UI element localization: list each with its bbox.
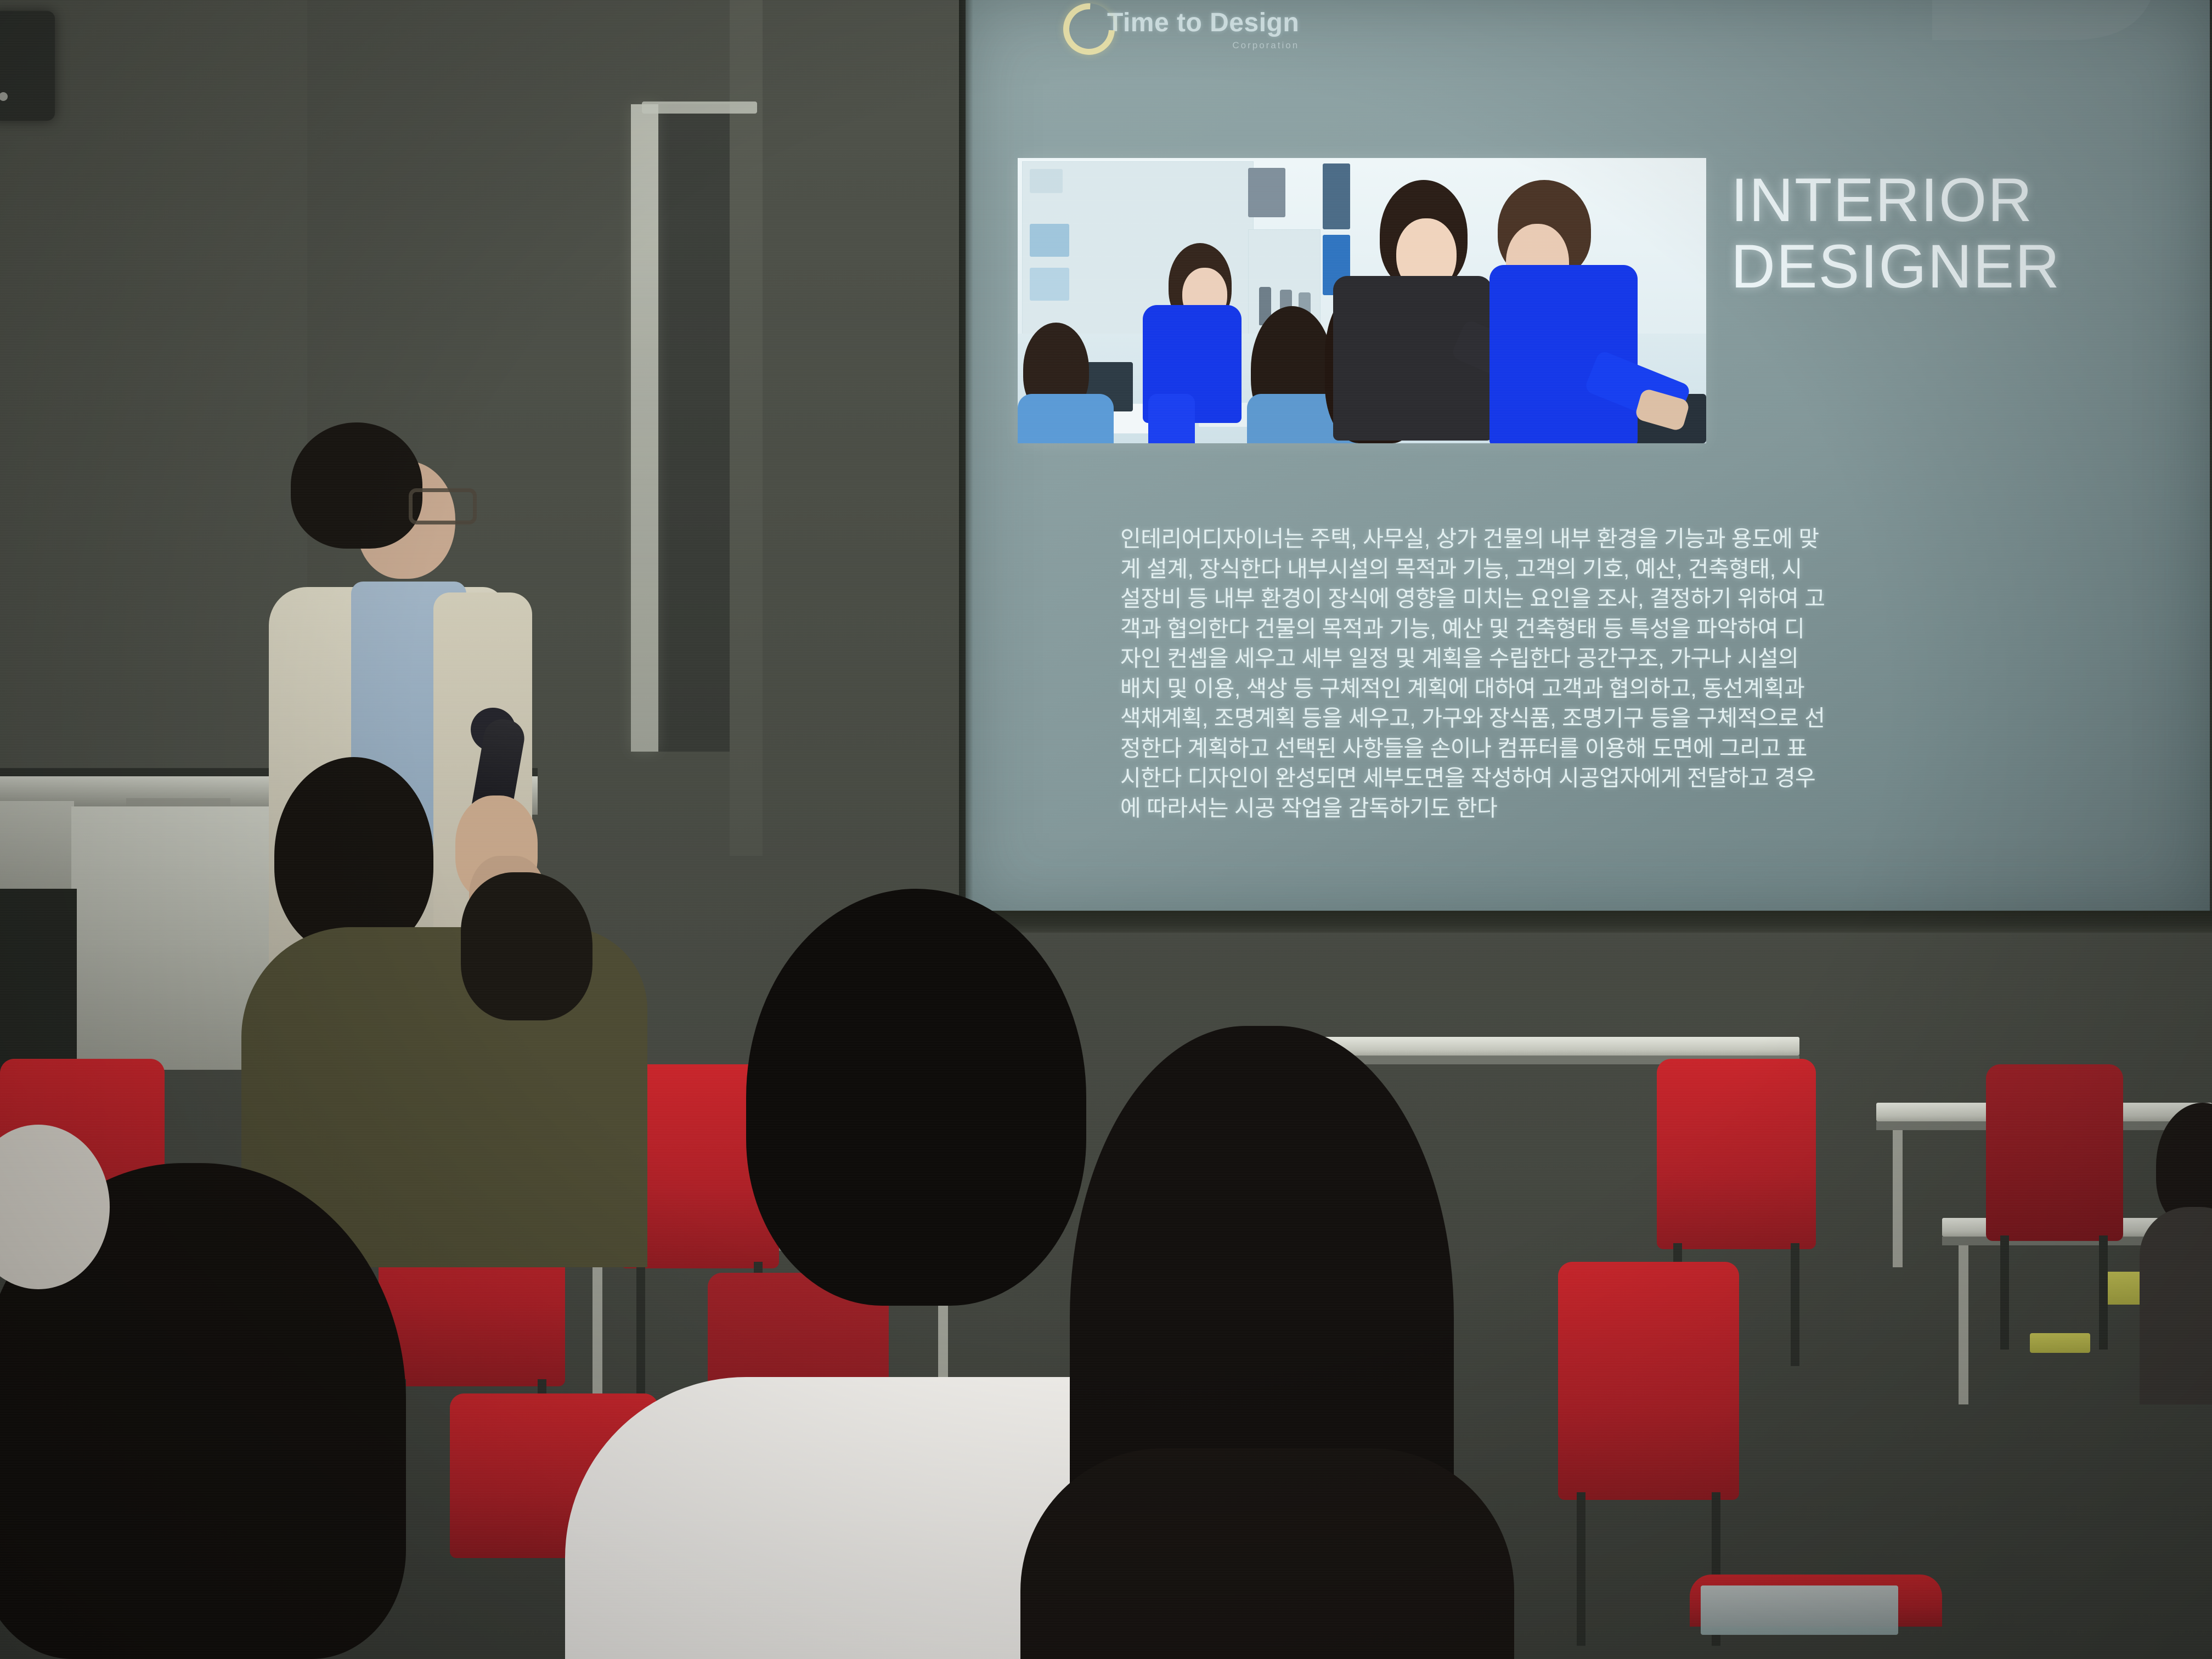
slide-logo-title: Time to Design	[1107, 10, 1299, 36]
slide-title-line1: INTERIOR	[1731, 167, 2061, 234]
slide-title-line2: DESIGNER	[1731, 234, 2061, 300]
slide-body-line: 배치 및 이용, 색상 등 구체적인 계획에 대하여 고객과 협의하고, 동선계…	[1120, 674, 2053, 704]
photo-wall-item	[1030, 268, 1069, 301]
screen-edge-shadow	[959, 0, 973, 917]
photo-wall-item	[1030, 224, 1069, 257]
wall-column	[730, 0, 763, 856]
slide-body-line: 시한다 디자인이 완성되면 세부도면을 작성하여 시공업자에게 전달하고 경우	[1120, 763, 2053, 793]
slide-body-line: 자인 컨셉을 세우고 세부 일정 및 계획을 수립한다 공간구조, 가구나 시설…	[1120, 644, 2053, 674]
slide-logo: Time to Design Corporation	[1063, 3, 1299, 55]
door-light-strip	[631, 104, 658, 752]
slide-body-line: 에 따라서는 시공 작업을 감독하기도 한다	[1120, 793, 2053, 823]
photo-wall-item	[1248, 168, 1285, 217]
slide-body-line: 게 설계, 장식한다 내부시설의 목적과 기능, 고객의 기호, 예산, 건축형…	[1120, 554, 2053, 584]
slide-body-text: 인테리어디자이너는 주택, 사무실, 상가 건물의 내부 환경을 기능과 용도에…	[1120, 524, 2053, 823]
projection-screen: Design Time to Design Corporation	[966, 0, 2210, 917]
photo-wall-item	[1030, 169, 1063, 193]
presenter-hair	[291, 422, 422, 549]
wall-speaker	[0, 11, 55, 121]
speaker-indicator-icon	[0, 92, 8, 101]
door-panel	[658, 104, 730, 752]
slide-body-line: 인테리어디자이너는 주택, 사무실, 상가 건물의 내부 환경을 기능과 용도에…	[1120, 524, 2053, 554]
paper-handout	[1701, 1585, 1898, 1635]
chair[interactable]	[1986, 1064, 2123, 1350]
slide-photo	[1018, 158, 1706, 443]
photo-wall-item	[1323, 163, 1350, 229]
slide-title: INTERIOR DESIGNER	[1731, 167, 2061, 300]
counter-side	[0, 801, 74, 889]
glasses-icon	[409, 488, 477, 524]
screen-bottom-edge	[959, 911, 2212, 933]
slide-body-line: 설장비 등 내부 환경이 장식에 영향을 미치는 요인을 조사, 결정하기 위하…	[1120, 584, 2053, 614]
slide-logo-tagline: Corporation	[1107, 40, 1299, 51]
slide-body-line: 객과 협의한다 건물의 목적과 기능, 예산 및 건축형태 등 특성을 파악하여…	[1120, 614, 2053, 644]
slide-body-line: 색채계획, 조명계획 등을 세우고, 가구와 장식품, 조명기구 등을 구체적으…	[1120, 703, 2053, 733]
presentation-photo-scene: Design Time to Design Corporation	[0, 0, 2212, 1659]
slide-body-line: 정한다 계획하고 선택된 사항들을 손이나 컴퓨터를 이용해 도면에 그리고 표	[1120, 733, 2053, 764]
door-header	[642, 101, 757, 114]
slide-watermark: Design	[1909, 0, 2210, 49]
